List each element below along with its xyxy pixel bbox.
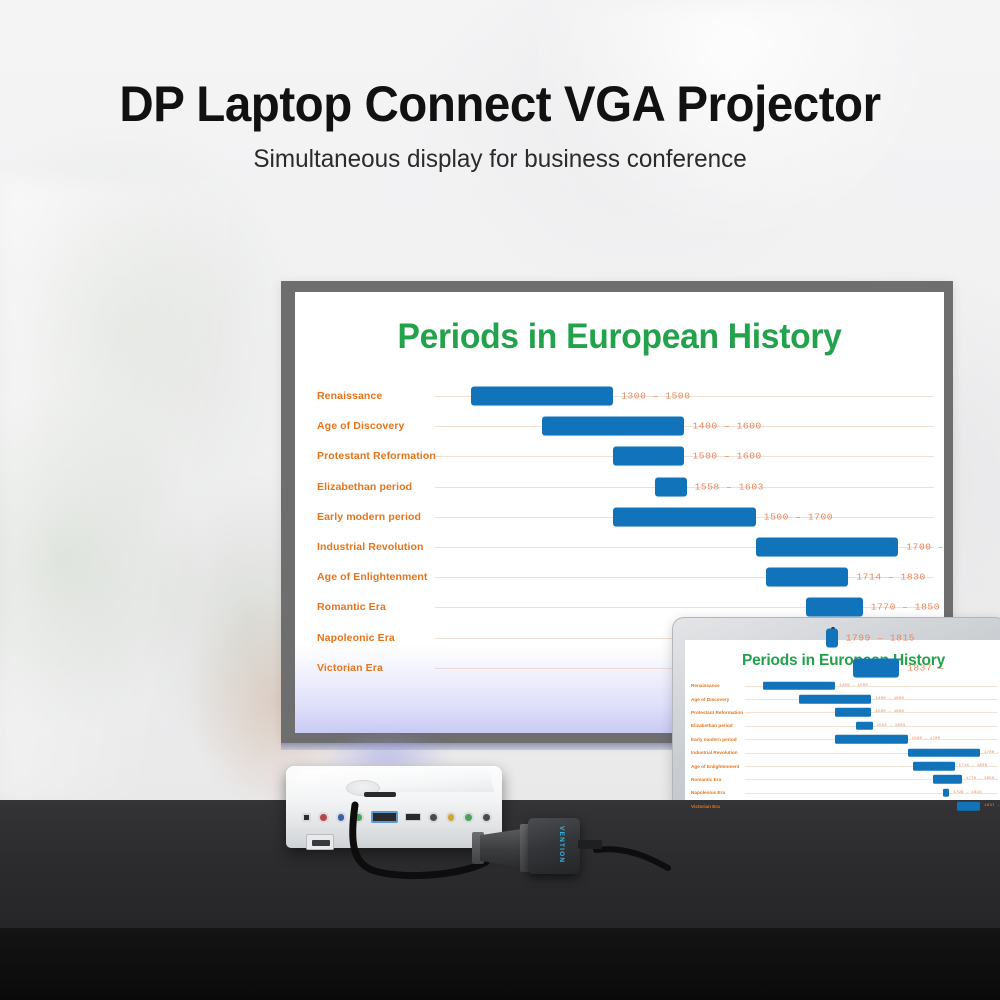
chart-bar-value: 1500 – 1600 xyxy=(876,710,905,714)
chart-row-track: 1770 – 1850 xyxy=(745,773,998,786)
chart-row-label: Renaissance xyxy=(317,390,435,402)
chart-bar xyxy=(766,568,849,587)
chart-bar xyxy=(756,538,899,557)
chart-bar xyxy=(943,789,949,798)
chart-leader-line xyxy=(435,426,934,427)
chart-row-label: Romantic Era xyxy=(317,601,435,613)
audio-port-icon xyxy=(428,812,439,823)
laptop-chart-rows: Renaissance1300 – 1500Age of Discovery14… xyxy=(685,679,1000,813)
header: DP Laptop Connect VGA Projector Simultan… xyxy=(0,78,1000,174)
chart-bar xyxy=(826,628,837,647)
chart-row-label: Industrial Revolution xyxy=(317,541,435,553)
chart-bar xyxy=(908,748,980,757)
chart-row-track: 1500 – 1700 xyxy=(745,733,998,746)
chart-bar-value: 1700 – 1900 xyxy=(906,542,944,553)
chart-row-label: Renaissance xyxy=(691,683,746,688)
chart-row: Industrial Revolution1700 – 1900 xyxy=(691,746,998,759)
chart-row-track: 1700 – 1900 xyxy=(435,532,934,562)
chart-row-track: 1558 – 1603 xyxy=(745,719,998,732)
projector-body xyxy=(286,766,502,848)
projector-port-row xyxy=(296,806,492,828)
component-blue-port-icon xyxy=(336,812,347,823)
chart-row-label: Industrial Revolution xyxy=(691,750,746,755)
chart-row: Age of Enlightenment1714 – 1830 xyxy=(317,562,934,592)
chart-bar xyxy=(655,477,687,496)
composite-video-port-icon xyxy=(446,812,457,823)
chart-row-track: 1558 – 1603 xyxy=(435,472,934,502)
chart-bar-value: 1770 – 1850 xyxy=(871,602,940,613)
chart-row: Age of Discovery1400 – 1600 xyxy=(317,411,934,441)
adapter-brand-label: VENTION xyxy=(558,826,565,863)
chart-row-label: Protestant Reformation xyxy=(691,710,746,715)
chart-row-track: 1500 – 1600 xyxy=(745,706,998,719)
projector-top-panel xyxy=(294,769,494,792)
chart-row-track: 1500 – 1700 xyxy=(435,502,934,532)
chart-row-label: Elizabethan period xyxy=(317,481,435,493)
background-light-left xyxy=(0,180,300,800)
chart-bar-value: 1300 – 1500 xyxy=(839,684,868,688)
chart-row: Early modern period1500 – 1700 xyxy=(317,502,934,532)
chart-bar-value: 1500 – 1700 xyxy=(764,511,833,522)
chart-bar xyxy=(471,387,614,406)
chart-bar-value: 1770 – 1850 xyxy=(966,777,995,781)
chart-row-track: 1714 – 1830 xyxy=(745,759,998,772)
chart-bar xyxy=(613,447,684,466)
chart-row-track: 1400 – 1600 xyxy=(435,411,934,441)
chart-row: Protestant Reformation1500 – 1600 xyxy=(317,441,934,471)
chart-bar xyxy=(856,722,872,731)
chart-bar-value: 1300 – 1500 xyxy=(621,391,690,402)
chart-row-track: 1799 – 1815 xyxy=(745,786,998,799)
chart-row-label: Napoleonic Era xyxy=(691,790,746,795)
chart-row-label: Age of Discovery xyxy=(317,420,435,432)
chart-row-label: Protestant Reformation xyxy=(317,450,435,462)
power-socket-icon xyxy=(306,834,334,850)
component-red-port-icon xyxy=(318,812,329,823)
chart-row-label: Early modern period xyxy=(691,737,746,742)
chart-row: Napoleonic Era1799 – 1815 xyxy=(691,786,998,799)
vga-port-icon xyxy=(371,811,398,823)
chart-row: Protestant Reformation1500 – 1600 xyxy=(691,706,998,719)
chart-bar xyxy=(853,658,899,677)
chart-row-label: Early modern period xyxy=(317,511,435,523)
chart-row: Industrial Revolution1700 – 1900 xyxy=(317,532,934,562)
chart-row-label: Age of Enlightenment xyxy=(317,571,435,583)
chart-bar-value: 1400 – 1600 xyxy=(876,697,905,701)
projector-vent xyxy=(364,792,396,797)
hdmi-port-icon xyxy=(405,813,421,821)
chart-row-label: Napoleonic Era xyxy=(317,632,435,644)
chart-bar xyxy=(806,598,863,617)
component-green-port-icon xyxy=(353,812,364,823)
adapter-cable-strain-relief xyxy=(578,840,602,849)
chart-bar xyxy=(913,762,955,771)
optical-port-icon xyxy=(302,813,311,822)
chart-bar xyxy=(542,417,685,436)
chart-row: Renaissance1300 – 1500 xyxy=(317,381,934,411)
chart-row: Early modern period1500 – 1700 xyxy=(691,733,998,746)
chart-row-track: 1300 – 1500 xyxy=(745,679,998,692)
chart-row-label: Romantic Era xyxy=(691,777,746,782)
dp-to-vga-adapter: VENTION xyxy=(480,818,600,880)
chart-row-track: 1700 – 1900 xyxy=(745,746,998,759)
chart-bar-value: 1837 – 1901 xyxy=(984,804,1000,808)
adapter-body: VENTION xyxy=(528,818,580,874)
chart-bar-value: 1714 – 1830 xyxy=(959,764,988,768)
chart-bar xyxy=(613,507,756,526)
chart-row-label: Victorian Era xyxy=(317,662,435,674)
chart-row-label: Victorian Era xyxy=(691,804,746,809)
chart-row-track: 1400 – 1600 xyxy=(745,692,998,705)
chart-title: Periods in European History xyxy=(308,292,931,357)
chart-row: Renaissance1300 – 1500 xyxy=(691,679,998,692)
chart-bar xyxy=(835,735,907,744)
laptop-chart-title: Periods in European History xyxy=(685,640,1000,670)
chart-bar xyxy=(957,802,980,811)
chart-row-track: 1300 – 1500 xyxy=(435,381,934,411)
chart-bar-value: 1714 – 1830 xyxy=(856,572,925,583)
chart-bar xyxy=(799,695,871,704)
chart-bar-value: 1500 – 1700 xyxy=(912,737,941,741)
desk-front-panel xyxy=(0,928,1000,1000)
chart-bar-value: 1558 – 1603 xyxy=(695,481,764,492)
chart-row: Age of Discovery1400 – 1600 xyxy=(691,692,998,705)
chart-bar xyxy=(763,681,835,690)
chart-row-label: Age of Enlightenment xyxy=(691,763,746,768)
chart-leader-line xyxy=(745,699,998,700)
chart-leader-line xyxy=(745,712,998,713)
chart-bar xyxy=(835,708,871,717)
chart-row-track: 1500 – 1600 xyxy=(435,441,934,471)
chart-row: Age of Enlightenment1714 – 1830 xyxy=(691,759,998,772)
page-subtitle: Simultaneous display for business confer… xyxy=(15,145,985,174)
chart-bar-value: 1837 – 1901 xyxy=(907,662,944,673)
chart-leader-line xyxy=(435,456,934,457)
chart-row-track: 1714 – 1830 xyxy=(435,562,934,592)
chart-bar-value: 1500 – 1600 xyxy=(693,451,762,462)
chart-row: Elizabethan period1558 – 1603 xyxy=(317,472,934,502)
chart-bar-value: 1799 – 1815 xyxy=(953,791,982,795)
chart-bar-value: 1558 – 1603 xyxy=(877,724,906,728)
chart-row-label: Age of Discovery xyxy=(691,697,746,702)
chart-bar-value: 1799 – 1815 xyxy=(846,632,915,643)
audio-out-port-icon xyxy=(463,812,474,823)
chart-bar-value: 1700 – 1900 xyxy=(984,751,1000,755)
chart-row: Romantic Era1770 – 1850 xyxy=(691,773,998,786)
page-title: DP Laptop Connect VGA Projector xyxy=(25,78,975,131)
chart-rows: Renaissance1300 – 1500Age of Discovery14… xyxy=(295,381,944,683)
projector-beam-glow xyxy=(322,734,452,770)
chart-bar xyxy=(933,775,962,784)
chart-row: Elizabethan period1558 – 1603 xyxy=(691,719,998,732)
chart-bar-value: 1400 – 1600 xyxy=(693,421,762,432)
chart-row-label: Elizabethan period xyxy=(691,723,746,728)
projector xyxy=(286,752,502,862)
